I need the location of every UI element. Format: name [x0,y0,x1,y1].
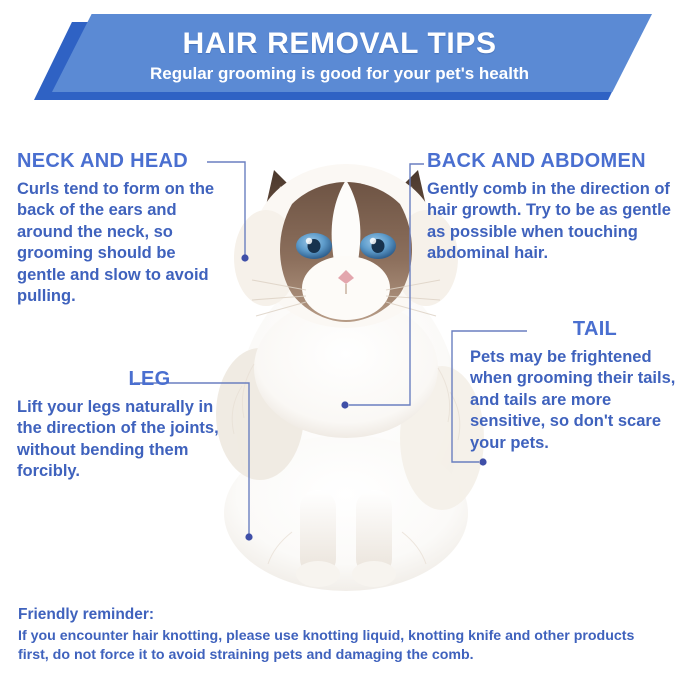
annotation-body-tail: Pets may be frightened when grooming the… [470,347,679,454]
annotation-heading-tail: TAIL [510,318,679,340]
annotation-heading-leg: LEG [72,368,227,390]
annotation-heading-back-and-abdomen: BACK AND ABDOMEN [427,150,677,172]
annotation-tail: TAIL Pets may be frightened when groomin… [470,318,679,454]
annotation-body-back-and-abdomen: Gently comb in the direction of hair gro… [427,179,677,265]
annotation-neck-and-head: NECK AND HEAD Curls tend to form on the … [17,150,217,308]
annotation-leg: LEG Lift your legs naturally in the dire… [17,368,227,483]
footer-title: Friendly reminder: [18,605,666,626]
infographic-page: HAIR REMOVAL TIPS Regular grooming is go… [0,0,679,679]
footer-line-1: If you encounter hair knotting, please u… [18,627,666,646]
annotation-back-and-abdomen: BACK AND ABDOMEN Gently comb in the dire… [427,150,677,265]
annotation-body-leg: Lift your legs naturally in the directio… [17,397,227,483]
annotation-body-neck-and-head: Curls tend to form on the back of the ea… [17,179,217,308]
header-banner: HAIR REMOVAL TIPS Regular grooming is go… [0,8,679,104]
banner-main-shape [52,14,652,92]
footer-note: Friendly reminder: If you encounter hair… [18,605,666,666]
annotation-heading-neck-and-head: NECK AND HEAD [17,150,217,172]
footer-line-2: first, do not force it to avoid strainin… [18,646,666,665]
